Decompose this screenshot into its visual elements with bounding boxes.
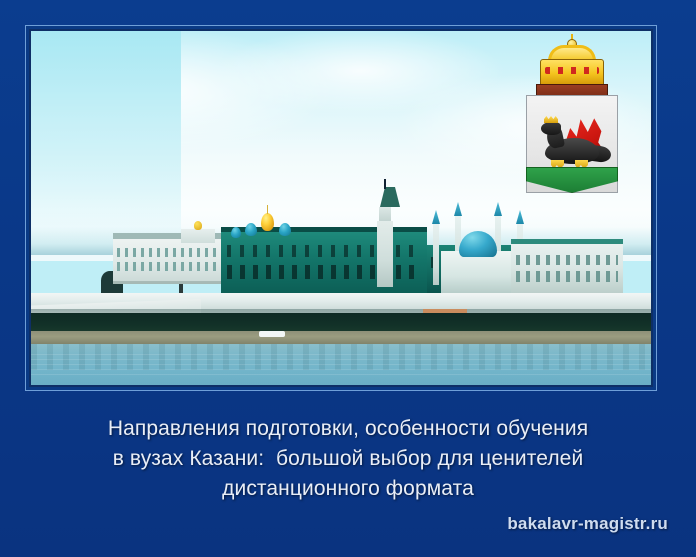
kazan-kremlin-photo [31,31,651,385]
shield-green-base [526,167,618,193]
minaret [433,223,439,285]
photo-inner-frame [29,29,653,387]
gold-dome-icon [261,213,274,231]
kazan-coat-of-arms-icon [520,35,624,205]
tower-roof [380,187,400,207]
tower-tier [379,207,391,221]
caption-line-2: в вузах Казани: большой выбор для цените… [0,444,696,474]
boat [259,331,285,337]
blue-dome-icon [245,223,257,236]
soyembika-tower [377,183,393,287]
window-row [117,248,217,257]
tower-needle [384,179,386,189]
site-watermark: bakalavr-magistr.ru [507,514,668,534]
mosque-blue-dome-icon [459,231,497,257]
dome-spire [267,205,268,214]
window-row [117,262,217,271]
zilant-dragon-icon [539,112,609,174]
window-row [516,271,618,282]
window-row [516,255,618,265]
shield [526,95,618,193]
crown-body [540,59,604,85]
kazanka-river [31,344,651,385]
water-ripple [31,354,651,376]
dragon-crown-icon [544,116,558,123]
gold-dome-icon [194,221,202,230]
poster-root: Направления подготовки, особенности обуч… [0,0,696,557]
crown-icon [536,41,608,97]
kremlin-teal-building [221,231,427,293]
crown-jewels [545,67,599,74]
white-building-left [113,238,221,284]
caption-line-3: дистанционного формата [0,474,696,504]
blue-dome-icon [231,227,241,238]
tower-shaft [377,221,393,287]
blue-dome-icon [279,223,291,236]
caption-line-1: Направления подготовки, особенности обуч… [0,414,696,444]
small-church-left [181,229,215,243]
cornice [511,239,623,244]
dragon-head [541,122,561,135]
mosque-body [441,251,515,293]
qol-sharif-mosque [433,209,523,293]
white-palace-right [511,243,623,293]
caption-block: Направления подготовки, особенности обуч… [0,414,696,504]
embankment-strip [31,331,651,345]
